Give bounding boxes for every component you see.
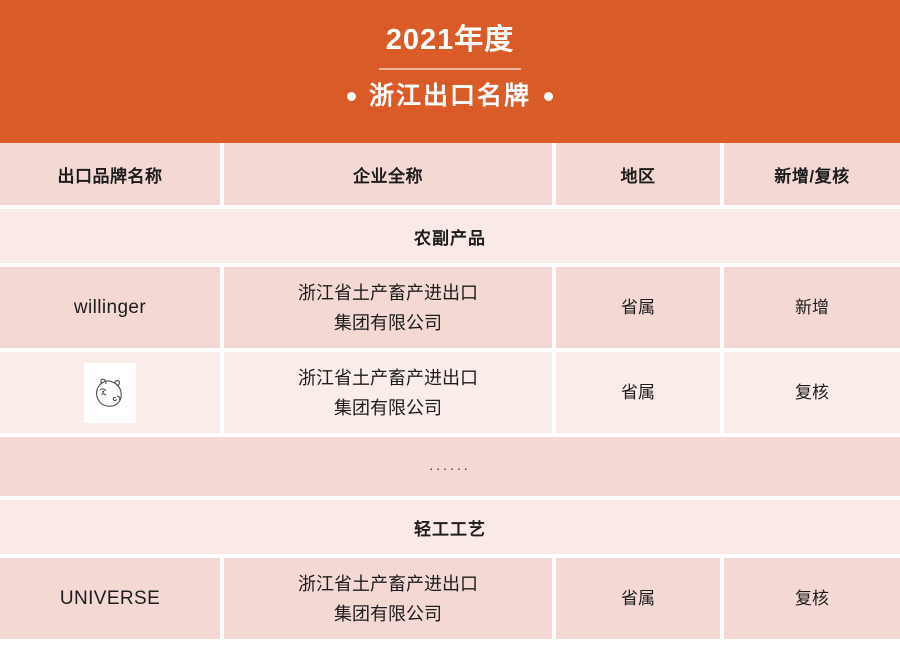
cell-brand-logo [0, 352, 224, 437]
cell-brand: willinger [0, 267, 224, 352]
section-row: 农副产品 [0, 209, 900, 267]
cell-company: 浙江省土产畜产进出口 集团有限公司 [224, 267, 556, 352]
cell-company: 浙江省土产畜产进出口 集团有限公司 [224, 352, 556, 437]
cell-company: 浙江省土产畜产进出口 集团有限公司 [224, 558, 556, 643]
column-header-status: 新增/复核 [724, 143, 900, 209]
banner-header: 2021年度 浙江出口名牌 [0, 0, 900, 143]
ellipsis-row: ...... [0, 437, 900, 500]
table-row: 浙江省土产畜产进出口 集团有限公司 省属 复核 [0, 352, 900, 437]
section-row: 轻工工艺 [0, 500, 900, 558]
export-brands-table: 出口品牌名称 企业全称 地区 新增/复核 农副产品 willinger 浙江省土… [0, 143, 900, 643]
animal-sketch-logo-icon [84, 363, 136, 423]
bullet-right-icon [544, 92, 553, 101]
column-header-company: 企业全称 [224, 143, 556, 209]
company-line-1: 浙江省土产畜产进出口 [224, 278, 552, 308]
table-header-row: 出口品牌名称 企业全称 地区 新增/复核 [0, 143, 900, 209]
company-line-1: 浙江省土产畜产进出口 [224, 363, 552, 393]
cell-status: 新增 [724, 267, 900, 352]
table-row: UNIVERSE 浙江省土产畜产进出口 集团有限公司 省属 复核 [0, 558, 900, 643]
poster-page: 2021年度 浙江出口名牌 出口品牌名称 企业全称 地区 新增/复核 农副产品 [0, 0, 900, 655]
table-row: willinger 浙江省土产畜产进出口 集团有限公司 省属 新增 [0, 267, 900, 352]
cell-status: 复核 [724, 558, 900, 643]
company-line-2: 集团有限公司 [224, 393, 552, 423]
cell-region: 省属 [556, 558, 724, 643]
section-title-agriculture: 农副产品 [0, 209, 900, 267]
banner-subtitle-wrap: 浙江出口名牌 [347, 80, 553, 112]
company-line-2: 集团有限公司 [224, 308, 552, 338]
cell-region: 省属 [556, 352, 724, 437]
cell-brand: UNIVERSE [0, 558, 224, 643]
column-header-region: 地区 [556, 143, 724, 209]
company-line-1: 浙江省土产畜产进出口 [224, 569, 552, 599]
column-header-brand: 出口品牌名称 [0, 143, 224, 209]
banner-divider [379, 68, 521, 70]
cell-region: 省属 [556, 267, 724, 352]
cell-status: 复核 [724, 352, 900, 437]
banner-subtitle: 浙江出口名牌 [369, 80, 531, 112]
ellipsis-text: ...... [0, 437, 900, 500]
bullet-left-icon [347, 92, 356, 101]
section-title-light-industry: 轻工工艺 [0, 500, 900, 558]
company-line-2: 集团有限公司 [224, 599, 552, 629]
banner-title: 2021年度 [386, 22, 515, 58]
